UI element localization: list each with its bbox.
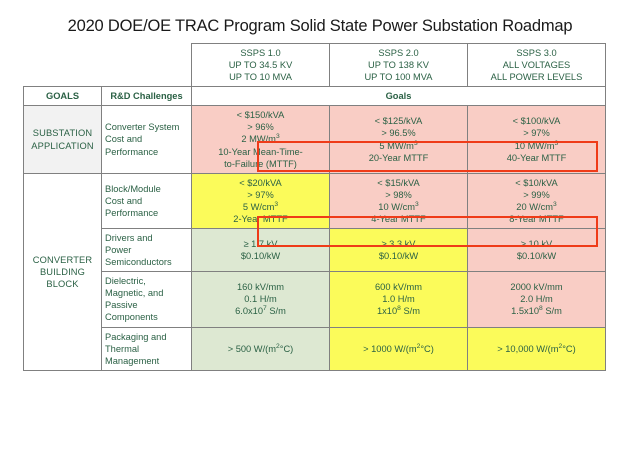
metric-line: 0.1 H/m: [195, 293, 326, 305]
metric-line: > 1000 W/(m2°C): [333, 343, 464, 355]
rd-challenge-label: Packaging andThermalManagement: [102, 327, 192, 370]
metric-cell-ssps-2: ≥ 3.3 kV$0.10/kW: [330, 229, 468, 272]
metric-line: 2.0 H/m: [471, 293, 602, 305]
rd-challenge-label: Dielectric,Magnetic, andPassiveComponent…: [102, 272, 192, 327]
rd-challenge-line: Performance: [105, 207, 188, 219]
rd-challenge-line: Drivers and: [105, 232, 188, 244]
rd-challenge-line: Thermal: [105, 343, 188, 355]
metric-line: > 500 W/(m2°C): [195, 343, 326, 355]
metric-cell-ssps-2: 600 kV/mm1.0 H/m1x108 S/m: [330, 272, 468, 327]
metric-line: to-Failure (MTTF): [195, 158, 326, 170]
group-label-line: BUILDING: [27, 266, 98, 278]
rd-challenge-line: Management: [105, 355, 188, 367]
metric-line: 40-Year MTTF: [471, 152, 602, 164]
metric-line: 10-Year Mean-Time-: [195, 146, 326, 158]
table-row: Packaging andThermalManagement> 500 W/(m…: [24, 327, 606, 370]
version-voltage: UP TO 34.5 KV: [195, 59, 326, 71]
group-label-line: CONVERTER: [27, 254, 98, 266]
version-power: UP TO 10 MVA: [195, 71, 326, 83]
metric-cell-ssps-2: < $15/kVA> 98%10 W/cm34-Year MTTF: [330, 173, 468, 228]
metric-line: 1.0 H/m: [333, 293, 464, 305]
rd-challenge-line: Magnetic, and: [105, 287, 188, 299]
metric-line: > 98%: [333, 189, 464, 201]
table-row: SUBSTATIONAPPLICATIONConverter SystemCos…: [24, 106, 606, 173]
rd-challenge-line: Block/Module: [105, 183, 188, 195]
metric-line: 5 W/cm3: [195, 201, 326, 213]
rd-challenge-label: Block/ModuleCost andPerformance: [102, 173, 192, 228]
metric-cell-ssps-2: > 1000 W/(m2°C): [330, 327, 468, 370]
version-voltage: ALL VOLTAGES: [471, 59, 602, 71]
rd-challenge-line: Cost and: [105, 133, 188, 145]
metric-line: 20-Year MTTF: [333, 152, 464, 164]
version-header-ssps-1: SSPS 1.0 UP TO 34.5 KV UP TO 10 MVA: [192, 44, 330, 87]
rd-challenge-line: Packaging and: [105, 331, 188, 343]
metric-cell-ssps-3: < $100/kVA> 97%10 MW/m340-Year MTTF: [468, 106, 606, 173]
version-power: ALL POWER LEVELS: [471, 71, 602, 83]
metric-line: 2 MW/m3: [195, 133, 326, 145]
rd-challenge-label: Drivers andPowerSemiconductors: [102, 229, 192, 272]
metric-line: > 97%: [195, 189, 326, 201]
corner-spacer-goals: [24, 44, 102, 87]
group-label-converter-building-block: CONVERTERBUILDINGBLOCK: [24, 173, 102, 370]
metric-line: < $15/kVA: [333, 177, 464, 189]
metric-line: 20 W/cm3: [471, 201, 602, 213]
metric-line: $0.10/kW: [195, 250, 326, 262]
roadmap-table-body: SSPS 1.0 UP TO 34.5 KV UP TO 10 MVA SSPS…: [24, 44, 606, 371]
rd-challenge-line: Components: [105, 311, 188, 323]
metric-line: > 10,000 W/(m2°C): [471, 343, 602, 355]
metric-line: < $150/kVA: [195, 109, 326, 121]
metric-line: 2000 kV/mm: [471, 281, 602, 293]
version-name: SSPS 1.0: [195, 47, 326, 59]
metric-cell-ssps-3: ≥ 10 kV$0.10/kW: [468, 229, 606, 272]
version-name: SSPS 2.0: [333, 47, 464, 59]
rd-challenge-line: Converter System: [105, 121, 188, 133]
metric-line: ≥ 3.3 kV: [333, 238, 464, 250]
metric-line: < $100/kVA: [471, 115, 602, 127]
metric-line: 600 kV/mm: [333, 281, 464, 293]
metric-cell-ssps-1: 160 kV/mm0.1 H/m6.0x107 S/m: [192, 272, 330, 327]
metric-cell-ssps-1: > 500 W/(m2°C): [192, 327, 330, 370]
header-goals-span: Goals: [192, 87, 606, 106]
rd-challenge-label: Converter SystemCost andPerformance: [102, 106, 192, 173]
metric-line: $0.10/kW: [471, 250, 602, 262]
version-power: UP TO 100 MVA: [333, 71, 464, 83]
rd-challenge-line: Passive: [105, 299, 188, 311]
page-title: 2020 DOE/OE TRAC Program Solid State Pow…: [0, 17, 640, 36]
corner-spacer-rd: [102, 44, 192, 87]
metric-line: > 99%: [471, 189, 602, 201]
roadmap-slide: 2020 DOE/OE TRAC Program Solid State Pow…: [0, 0, 640, 462]
metric-cell-ssps-1: < $20/kVA> 97%5 W/cm32-Year MTTF: [192, 173, 330, 228]
group-label-line: SUBSTATION: [27, 127, 98, 139]
metric-line: 1.5x108 S/m: [471, 305, 602, 317]
version-voltage: UP TO 138 KV: [333, 59, 464, 71]
version-header-ssps-3: SSPS 3.0 ALL VOLTAGES ALL POWER LEVELS: [468, 44, 606, 87]
rd-challenge-line: Semiconductors: [105, 256, 188, 268]
rd-challenge-line: Cost and: [105, 195, 188, 207]
header-rd-challenges: R&D Challenges: [102, 87, 192, 106]
metric-line: 10 MW/m3: [471, 140, 602, 152]
metric-line: > 96%: [195, 121, 326, 133]
metric-line: $0.10/kW: [333, 250, 464, 262]
rd-challenge-line: Dielectric,: [105, 275, 188, 287]
rd-challenge-line: Performance: [105, 146, 188, 158]
version-name: SSPS 3.0: [471, 47, 602, 59]
column-header-row: GOALS R&D Challenges Goals: [24, 87, 606, 106]
metric-cell-ssps-3: > 10,000 W/(m2°C): [468, 327, 606, 370]
metric-line: > 97%: [471, 127, 602, 139]
metric-line: 8-Year MTTF: [471, 213, 602, 225]
metric-line: < $20/kVA: [195, 177, 326, 189]
metric-line: 1x108 S/m: [333, 305, 464, 317]
metric-line: > 96.5%: [333, 127, 464, 139]
table-row: Dielectric,Magnetic, andPassiveComponent…: [24, 272, 606, 327]
table-row: Drivers andPowerSemiconductors≥ 1.7 kV$0…: [24, 229, 606, 272]
metric-line: ≥ 1.7 kV: [195, 238, 326, 250]
metric-line: 5 MW/m3: [333, 140, 464, 152]
metric-cell-ssps-1: ≥ 1.7 kV$0.10/kW: [192, 229, 330, 272]
table-row: CONVERTERBUILDINGBLOCKBlock/ModuleCost a…: [24, 173, 606, 228]
group-label-substation-application: SUBSTATIONAPPLICATION: [24, 106, 102, 173]
metric-cell-ssps-2: < $125/kVA> 96.5%5 MW/m320-Year MTTF: [330, 106, 468, 173]
metric-line: < $125/kVA: [333, 115, 464, 127]
metric-cell-ssps-3: < $10/kVA> 99%20 W/cm38-Year MTTF: [468, 173, 606, 228]
version-header-ssps-2: SSPS 2.0 UP TO 138 KV UP TO 100 MVA: [330, 44, 468, 87]
header-goals: GOALS: [24, 87, 102, 106]
metric-line: 4-Year MTTF: [333, 213, 464, 225]
metric-cell-ssps-1: < $150/kVA> 96%2 MW/m310-Year Mean-Time-…: [192, 106, 330, 173]
metric-line: < $10/kVA: [471, 177, 602, 189]
roadmap-table: SSPS 1.0 UP TO 34.5 KV UP TO 10 MVA SSPS…: [23, 43, 606, 371]
rd-challenge-line: Power: [105, 244, 188, 256]
metric-cell-ssps-3: 2000 kV/mm2.0 H/m1.5x108 S/m: [468, 272, 606, 327]
metric-line: ≥ 10 kV: [471, 238, 602, 250]
metric-line: 10 W/cm3: [333, 201, 464, 213]
metric-line: 2-Year MTTF: [195, 213, 326, 225]
metric-line: 160 kV/mm: [195, 281, 326, 293]
group-label-line: BLOCK: [27, 278, 98, 290]
version-header-row: SSPS 1.0 UP TO 34.5 KV UP TO 10 MVA SSPS…: [24, 44, 606, 87]
metric-line: 6.0x107 S/m: [195, 305, 326, 317]
group-label-line: APPLICATION: [27, 140, 98, 152]
